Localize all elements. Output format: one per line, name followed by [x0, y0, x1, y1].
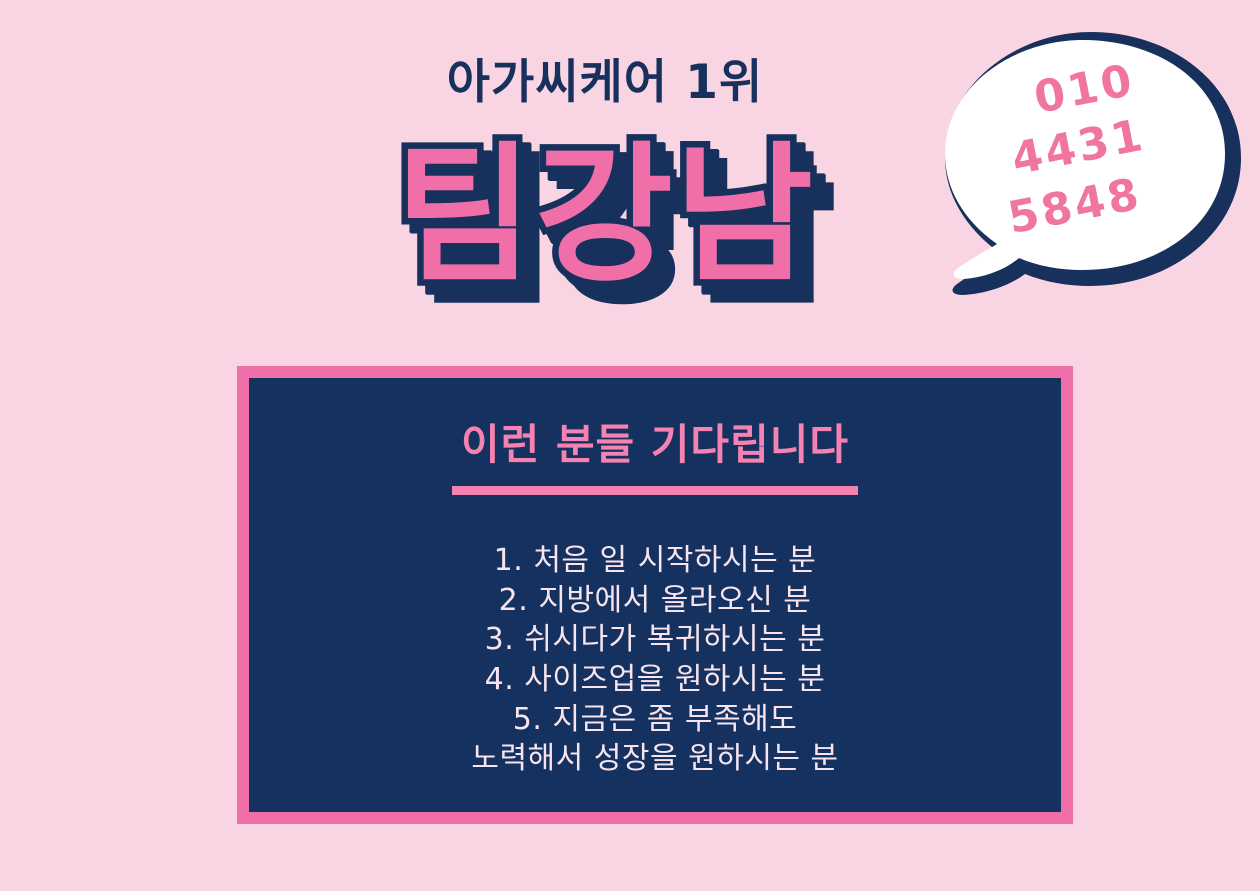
phone-speech-bubble[interactable]: 010 4431 5848: [905, 18, 1255, 313]
list-item: 3. 쉬시다가 복귀하시는 분: [471, 620, 838, 660]
brand-wordmark: 팀강남: [395, 128, 815, 305]
heading-underline-rule: [452, 486, 858, 495]
list-item: 1. 처음 일 시작하시는 분: [471, 541, 838, 581]
poster-canvas: 아가씨케어 1위 팀강남 010 4431 5848 이런 분들 기다립니다 1…: [0, 0, 1260, 891]
list-item: 4. 사이즈업을 원하시는 분: [471, 660, 838, 700]
list-item: 2. 지방에서 올라오신 분: [471, 581, 838, 621]
info-panel-inner: 이런 분들 기다립니다 1. 처음 일 시작하시는 분 2. 지방에서 올라오신…: [249, 378, 1061, 812]
info-panel: 이런 분들 기다립니다 1. 처음 일 시작하시는 분 2. 지방에서 올라오신…: [237, 366, 1073, 824]
list-item: 5. 지금은 좀 부족해도: [471, 700, 838, 740]
list-item: 노력해서 성장을 원하시는 분: [471, 739, 838, 779]
panel-heading: 이런 분들 기다립니다: [461, 422, 849, 468]
requirements-list: 1. 처음 일 시작하시는 분 2. 지방에서 올라오신 분 3. 쉬시다가 복…: [471, 541, 838, 779]
